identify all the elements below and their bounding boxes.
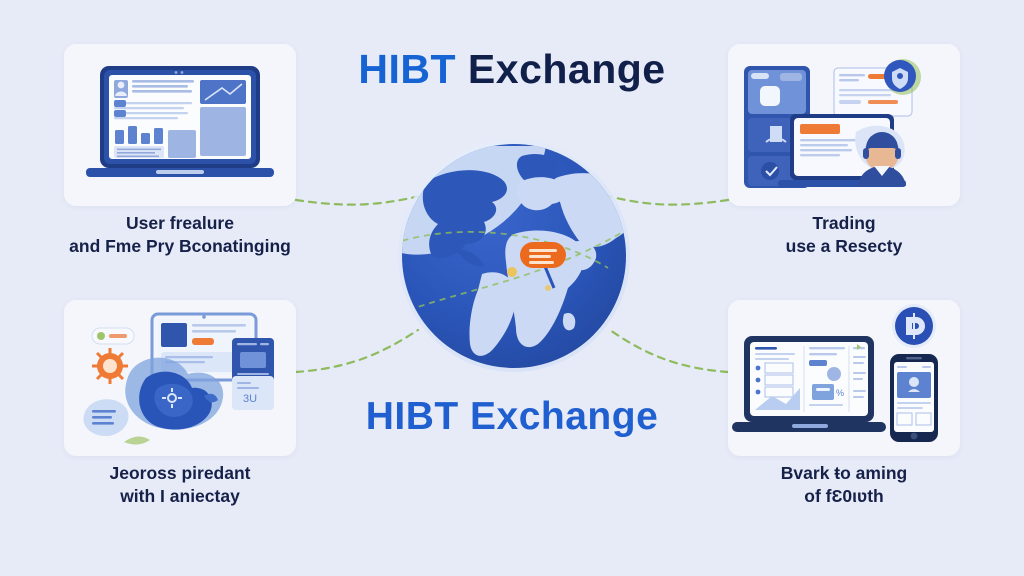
- panel-top-left-caption: User frealure and Fme Pry Bconatinging: [64, 212, 296, 259]
- page-title-top: HIBT Exchange: [0, 46, 1024, 93]
- caption-line-1: Trading: [728, 212, 960, 235]
- caption-line-2: of fƐ0ιʋth: [728, 485, 960, 508]
- support-agent-figure: [855, 126, 906, 186]
- panel-bottom-left-caption: Jeoross piredant with I aniectay: [64, 462, 296, 509]
- gear-icon: [92, 348, 128, 384]
- title-top-secondary: Exchange: [468, 46, 666, 92]
- title-top-primary: HIBT: [358, 46, 456, 92]
- caption-line-1: User frealure: [64, 212, 296, 235]
- caption-line-2: use a Resecty: [728, 235, 960, 258]
- panel-top-right-caption: Trading use a Resecty: [728, 212, 960, 259]
- world-globe: [396, 138, 632, 374]
- caption-line-2: with I aniectay: [64, 485, 296, 508]
- caption-line-1: Bvark ŧo aming: [728, 462, 960, 485]
- diagram-canvas: .lk{fill:none;stroke:#7cb342;stroke-widt…: [0, 0, 1024, 576]
- verified-badge-icon: [892, 304, 936, 348]
- page-title-bottom: HIBT Exchange: [0, 395, 1024, 439]
- panel-bottom-right-caption: Bvark ŧo aming of fƐ0ιʋth: [728, 462, 960, 509]
- caption-line-2: and Fme Pry Bconatinging: [64, 235, 296, 258]
- caption-line-1: Jeoross piredant: [64, 462, 296, 485]
